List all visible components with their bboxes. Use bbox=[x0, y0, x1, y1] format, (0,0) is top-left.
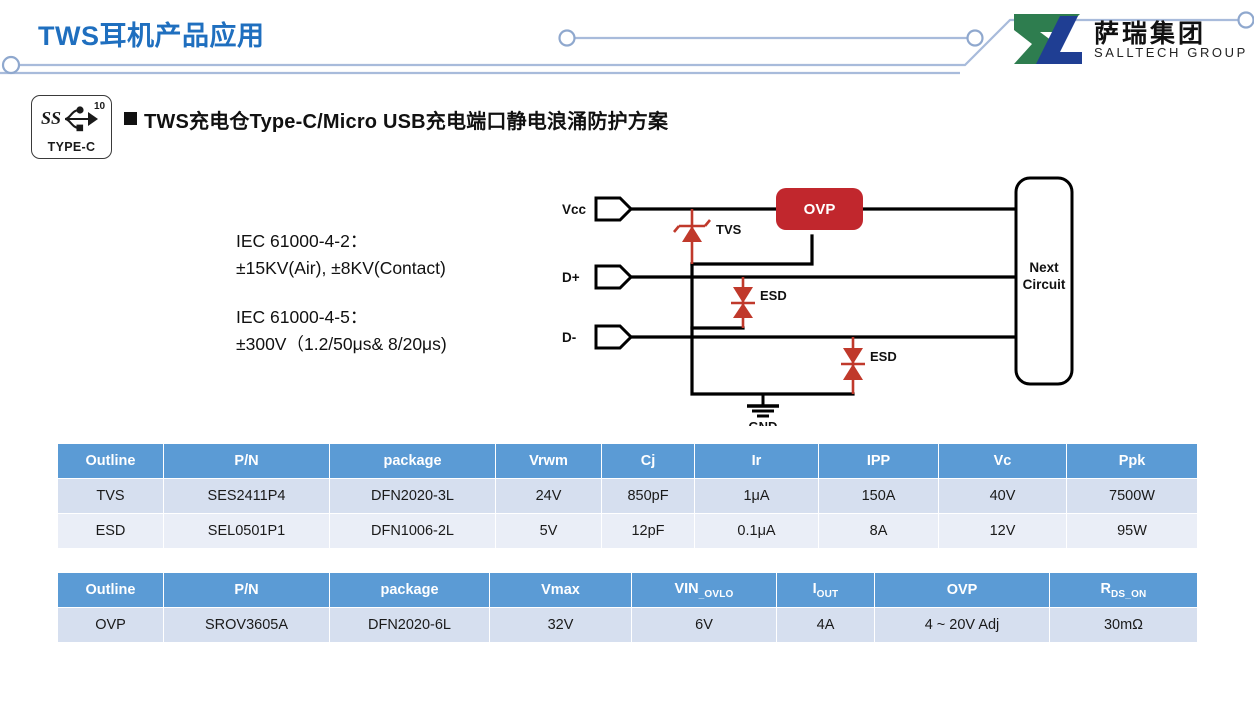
cell-ppk: 7500W bbox=[1067, 479, 1198, 514]
column-header-outline: Outline bbox=[58, 573, 164, 608]
usb-superspeed-icon: SS 10 bbox=[32, 97, 111, 139]
column-header-vin-ovlo: VIN_OVLO bbox=[632, 573, 777, 608]
port-label-dm: D- bbox=[562, 330, 576, 345]
column-header-ovp: OVP bbox=[875, 573, 1050, 608]
cell-ipp: 8A bbox=[819, 514, 939, 549]
ovp-label: OVP bbox=[804, 201, 836, 218]
column-header-vrwm: Vrwm bbox=[496, 444, 602, 479]
port-label-vcc: Vcc bbox=[562, 202, 587, 217]
column-header-pn: P/N bbox=[164, 444, 330, 479]
ground-label: GND bbox=[749, 419, 778, 426]
usb-speed-label: 10 bbox=[94, 101, 106, 112]
esd-diode-symbol-1 bbox=[731, 277, 755, 328]
table-header-row: Outline P/N package Vmax VIN_OVLO IOUT O… bbox=[58, 573, 1198, 608]
ground-symbol bbox=[747, 394, 779, 416]
page-header: TWS耳机产品应用 萨瑞集团 SALLTECH GROUP bbox=[0, 0, 1254, 82]
column-header-ipp: IPP bbox=[819, 444, 939, 479]
spec-group-esd: IEC 61000-4-2： ±15KV(Air), ±8KV(Contact) bbox=[236, 228, 447, 282]
section-title: TWS充电仓Type-C/Micro USB充电端口静电浪涌防护方案 bbox=[144, 105, 668, 134]
spec-value: ±300V（1.2/50μs& 8/20μs) bbox=[236, 331, 447, 358]
tvs-diode-symbol bbox=[674, 209, 710, 264]
cell-ppk: 95W bbox=[1067, 514, 1198, 549]
column-header-package: package bbox=[330, 444, 496, 479]
cell-vc: 12V bbox=[939, 514, 1067, 549]
cell-vmax: 32V bbox=[490, 608, 632, 643]
spec-standard: IEC 61000-4-5： bbox=[236, 304, 447, 331]
column-header-vmax: Vmax bbox=[490, 573, 632, 608]
cell-vrwm: 24V bbox=[496, 479, 602, 514]
cell-vc: 40V bbox=[939, 479, 1067, 514]
port-label-dp: D+ bbox=[562, 270, 580, 285]
salltech-logo-mark bbox=[1010, 12, 1088, 66]
column-header-cj: Cj bbox=[602, 444, 695, 479]
column-header-package: package bbox=[330, 573, 490, 608]
cell-iout: 4A bbox=[777, 608, 875, 643]
cell-cj: 12pF bbox=[602, 514, 695, 549]
ovp-block: OVP bbox=[776, 188, 863, 230]
spec-value: ±15KV(Air), ±8KV(Contact) bbox=[236, 255, 447, 282]
column-header-outline: Outline bbox=[58, 444, 164, 479]
table-protection-devices: Outline P/N package Vrwm Cj Ir IPP Vc Pp… bbox=[57, 443, 1198, 549]
table-row: TVS SES2411P4 DFN2020-3L 24V 850pF 1μA 1… bbox=[58, 479, 1198, 514]
cell-vrwm: 5V bbox=[496, 514, 602, 549]
column-header-vc: Vc bbox=[939, 444, 1067, 479]
column-header-rds-on: RDS_ON bbox=[1050, 573, 1198, 608]
esd-diode-symbol-2 bbox=[841, 337, 865, 394]
spec-group-surge: IEC 61000-4-5： ±300V（1.2/50μs& 8/20μs) bbox=[236, 304, 447, 358]
brand-logo: 萨瑞集团 SALLTECH GROUP bbox=[1010, 12, 1246, 68]
table-row: OVP SROV3605A DFN2020-6L 32V 6V 4A 4 ~ 2… bbox=[58, 608, 1198, 643]
cell-cj: 850pF bbox=[602, 479, 695, 514]
esd-label-2: ESD bbox=[870, 349, 897, 364]
column-header-ir: Ir bbox=[695, 444, 819, 479]
esd-label-1: ESD bbox=[760, 288, 787, 303]
port-connector-dp bbox=[596, 266, 631, 288]
cell-pn: SROV3605A bbox=[164, 608, 330, 643]
tvs-label: TVS bbox=[716, 222, 742, 237]
cell-ipp: 150A bbox=[819, 479, 939, 514]
cell-outline: OVP bbox=[58, 608, 164, 643]
next-circuit-line2: Circuit bbox=[1023, 277, 1066, 292]
section-bullet-icon bbox=[124, 112, 137, 125]
column-header-pn: P/N bbox=[164, 573, 330, 608]
column-header-iout: IOUT bbox=[777, 573, 875, 608]
table-header-row: Outline P/N package Vrwm Cj Ir IPP Vc Pp… bbox=[58, 444, 1198, 479]
column-header-ppk: Ppk bbox=[1067, 444, 1198, 479]
spec-standard: IEC 61000-4-2： bbox=[236, 228, 447, 255]
wire-ovp-sense bbox=[692, 236, 812, 264]
cell-package: DFN2020-3L bbox=[330, 479, 496, 514]
table-row: ESD SEL0501P1 DFN1006-2L 5V 12pF 0.1μA 8… bbox=[58, 514, 1198, 549]
cell-outline: ESD bbox=[58, 514, 164, 549]
cell-pn: SEL0501P1 bbox=[164, 514, 330, 549]
cell-outline: TVS bbox=[58, 479, 164, 514]
cell-ovp: 4 ~ 20V Adj bbox=[875, 608, 1050, 643]
cell-package: DFN2020-6L bbox=[330, 608, 490, 643]
logo-english-name: SALLTECH GROUP bbox=[1094, 45, 1248, 60]
port-connector-vcc bbox=[596, 198, 631, 220]
cell-vin-ovlo: 6V bbox=[632, 608, 777, 643]
protection-circuit-diagram: Vcc D+ D- TVS ESD ESD bbox=[548, 168, 1096, 426]
cell-rds-on: 30mΩ bbox=[1050, 608, 1198, 643]
iec-spec-block: IEC 61000-4-2： ±15KV(Air), ±8KV(Contact)… bbox=[236, 228, 447, 380]
port-connector-dm bbox=[596, 326, 631, 348]
table-ovp-device: Outline P/N package Vmax VIN_OVLO IOUT O… bbox=[57, 572, 1198, 643]
next-circuit-block: Next Circuit bbox=[1016, 178, 1072, 384]
type-c-label: TYPE-C bbox=[32, 140, 111, 154]
ss-letters: SS bbox=[41, 108, 61, 128]
cell-package: DFN1006-2L bbox=[330, 514, 496, 549]
cell-pn: SES2411P4 bbox=[164, 479, 330, 514]
cell-ir: 1μA bbox=[695, 479, 819, 514]
next-circuit-line1: Next bbox=[1029, 260, 1059, 275]
cell-ir: 0.1μA bbox=[695, 514, 819, 549]
type-c-badge: SS 10 TYPE-C bbox=[31, 95, 112, 159]
